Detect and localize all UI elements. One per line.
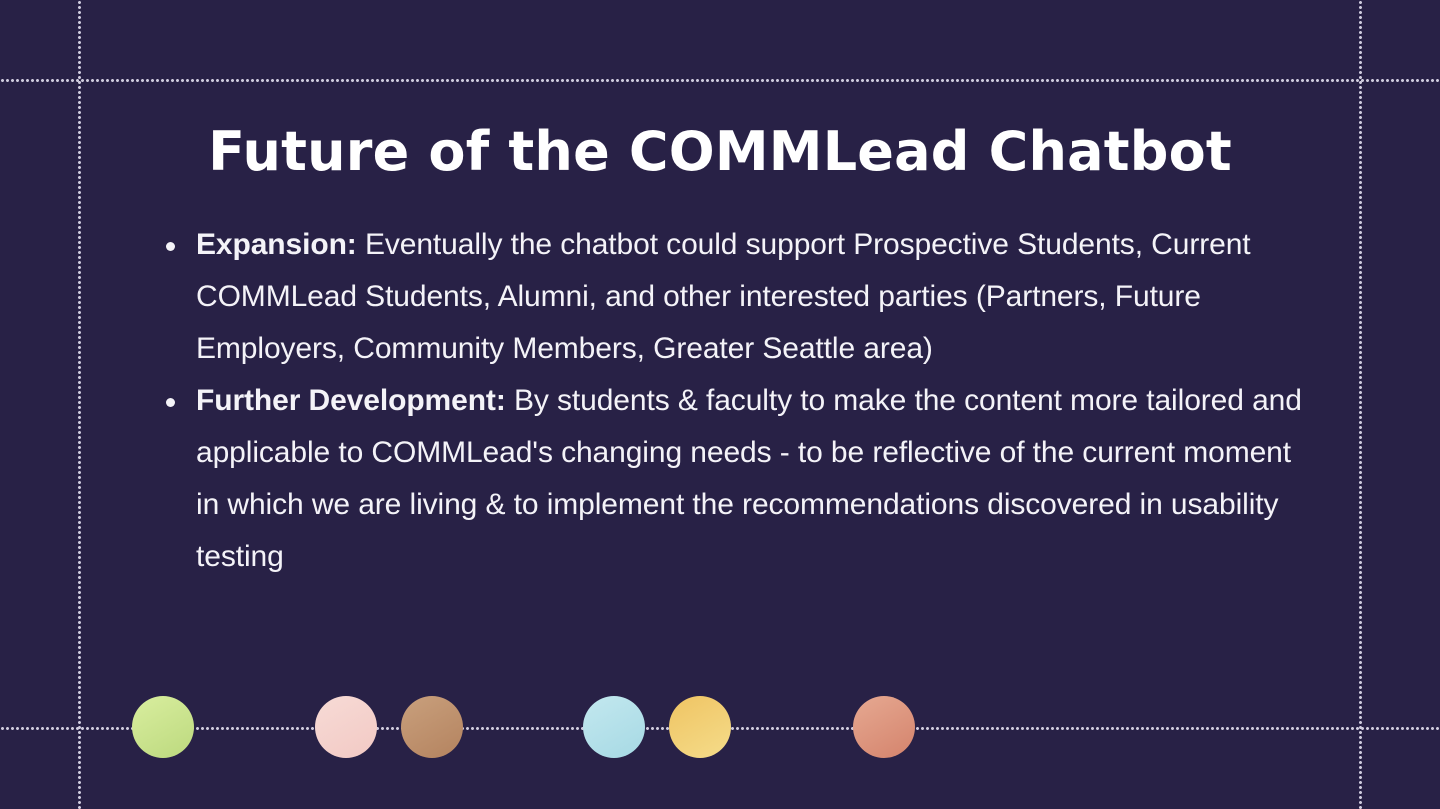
decorative-circle-sky bbox=[583, 696, 645, 758]
slide-canvas: Future of the COMMLead Chatbot Expansion… bbox=[0, 0, 1440, 809]
list-item: Further Development: By students & facul… bbox=[160, 375, 1320, 583]
content-body: Expansion: Eventually the chatbot could … bbox=[160, 219, 1320, 583]
grid-line-horizontal-top bbox=[0, 79, 1440, 82]
bullet-lead-in: Further Development: bbox=[196, 384, 506, 417]
decorative-circle-pink bbox=[315, 696, 377, 758]
decorative-circle-yellow bbox=[669, 696, 731, 758]
decorative-circle-salmon bbox=[853, 696, 915, 758]
list-item: Expansion: Eventually the chatbot could … bbox=[160, 219, 1320, 375]
decorative-circle-tan bbox=[401, 696, 463, 758]
decorative-circle-green bbox=[132, 696, 194, 758]
grid-line-horizontal-bottom bbox=[0, 727, 1440, 730]
bullet-lead-in: Expansion: bbox=[196, 228, 357, 261]
bullet-list: Expansion: Eventually the chatbot could … bbox=[160, 219, 1320, 583]
page-title: Future of the COMMLead Chatbot bbox=[0, 118, 1440, 186]
